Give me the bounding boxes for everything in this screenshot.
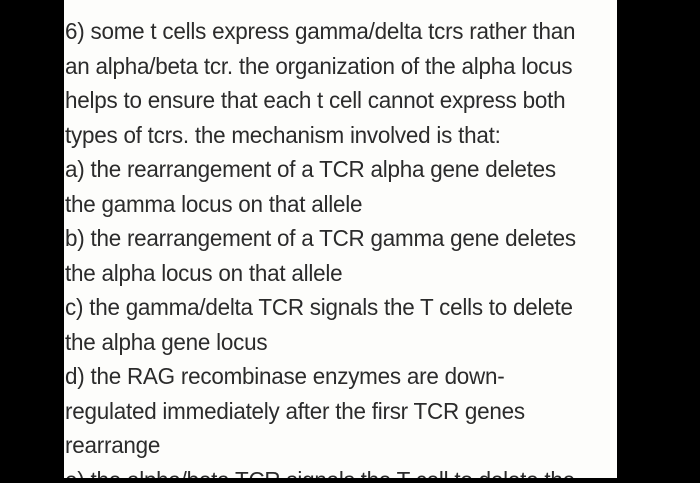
letterbox-bar-left <box>0 0 64 483</box>
choice-d-line: rearrange <box>65 428 592 463</box>
choice-d-line: regulated immediately after the firsr TC… <box>65 394 592 429</box>
choice-b-line: b) the rearrangement of a TCR gamma gene… <box>65 221 592 256</box>
question-card: 6) some t cells express gamma/delta tcrs… <box>64 0 617 478</box>
question-line: types of tcrs. the mechanism involved is… <box>65 118 592 153</box>
choice-c-line: c) the gamma/delta TCR signals the T cel… <box>65 290 592 325</box>
choice-c-line: the alpha gene locus <box>65 325 592 360</box>
question-line: helps to ensure that each t cell cannot … <box>65 83 592 118</box>
letterbox-bar-right <box>617 0 700 483</box>
choice-e-line: e) the alpha/beta TCR signals the T cell… <box>65 463 592 479</box>
choice-b-line: the alpha locus on that allele <box>65 256 592 291</box>
letterbox-bar-bottom <box>0 478 700 483</box>
question-line: an alpha/beta tcr. the organization of t… <box>65 49 592 84</box>
choice-a-line: the gamma locus on that allele <box>65 187 592 222</box>
choice-d-line: d) the RAG recombinase enzymes are down- <box>65 359 592 394</box>
question-line: 6) some t cells express gamma/delta tcrs… <box>65 14 592 49</box>
choice-a-line: a) the rearrangement of a TCR alpha gene… <box>65 152 592 187</box>
screenshot-root: 6) some t cells express gamma/delta tcrs… <box>0 0 700 483</box>
question-text-block: 6) some t cells express gamma/delta tcrs… <box>65 14 617 478</box>
